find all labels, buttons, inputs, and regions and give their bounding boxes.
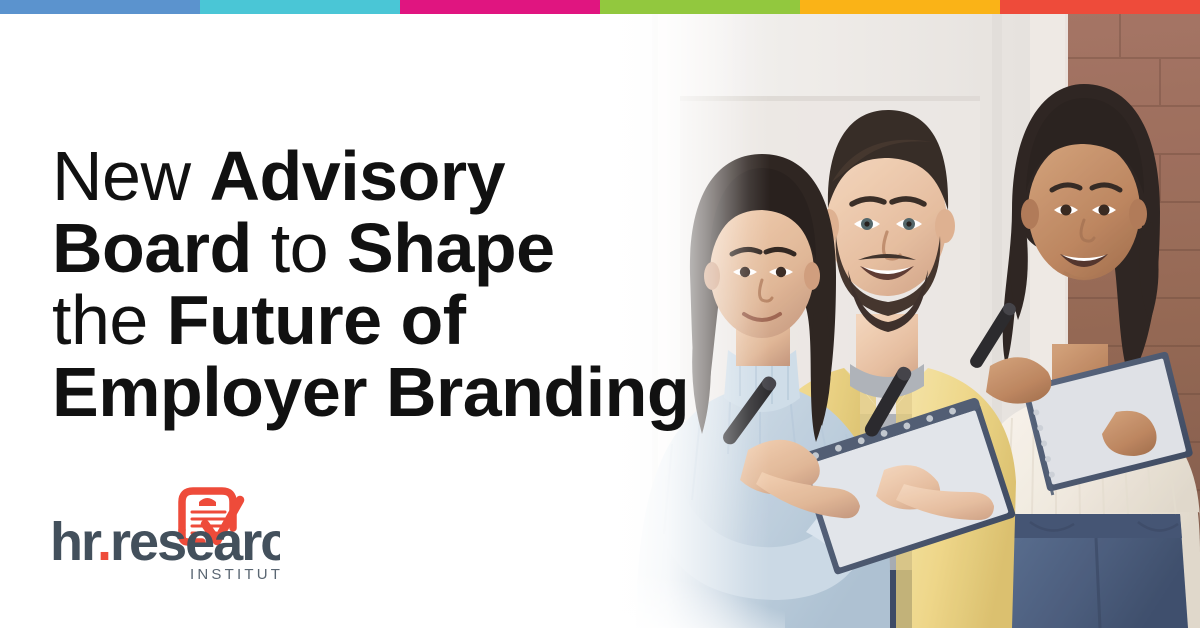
logo-artwork: hr.research INSTITUTE <box>50 484 280 584</box>
promo-banner: New Advisory Board to Shape the Future o… <box>0 0 1200 628</box>
page-title: New Advisory Board to Shape the Future o… <box>52 140 689 428</box>
headline-word-board: Board <box>52 209 271 287</box>
logo-wordmark: hr.research <box>50 512 280 572</box>
color-segment-green <box>600 0 800 14</box>
headline-word-new: New <box>52 137 209 215</box>
headline-word-future-of: Future of <box>167 281 466 359</box>
headline-line-4: Employer Branding <box>52 356 689 428</box>
brand-color-bar <box>0 0 1200 14</box>
logo-text-research: research <box>110 512 280 572</box>
logo-text-hr: hr <box>50 512 102 572</box>
headline-word-employer-branding: Employer Branding <box>52 353 689 431</box>
color-segment-pink <box>400 0 600 14</box>
logo-tagline: INSTITUTE <box>190 566 280 583</box>
color-segment-yellow <box>800 0 1000 14</box>
hr-research-institute-logo[interactable]: hr.research INSTITUTE <box>50 484 280 584</box>
logo-text-dot: . <box>97 512 110 572</box>
color-segment-blue <box>0 0 200 14</box>
headline-line-2: Board to Shape <box>52 212 689 284</box>
headline-line-1: New Advisory <box>52 140 689 212</box>
headline-word-advisory: Advisory <box>209 137 505 215</box>
headline-word-the: the <box>52 281 167 359</box>
color-segment-cyan <box>200 0 400 14</box>
headline-word-to: to <box>271 209 347 287</box>
headline-word-shape: Shape <box>347 209 555 287</box>
color-segment-red <box>1000 0 1200 14</box>
headline-line-3: the Future of <box>52 284 689 356</box>
